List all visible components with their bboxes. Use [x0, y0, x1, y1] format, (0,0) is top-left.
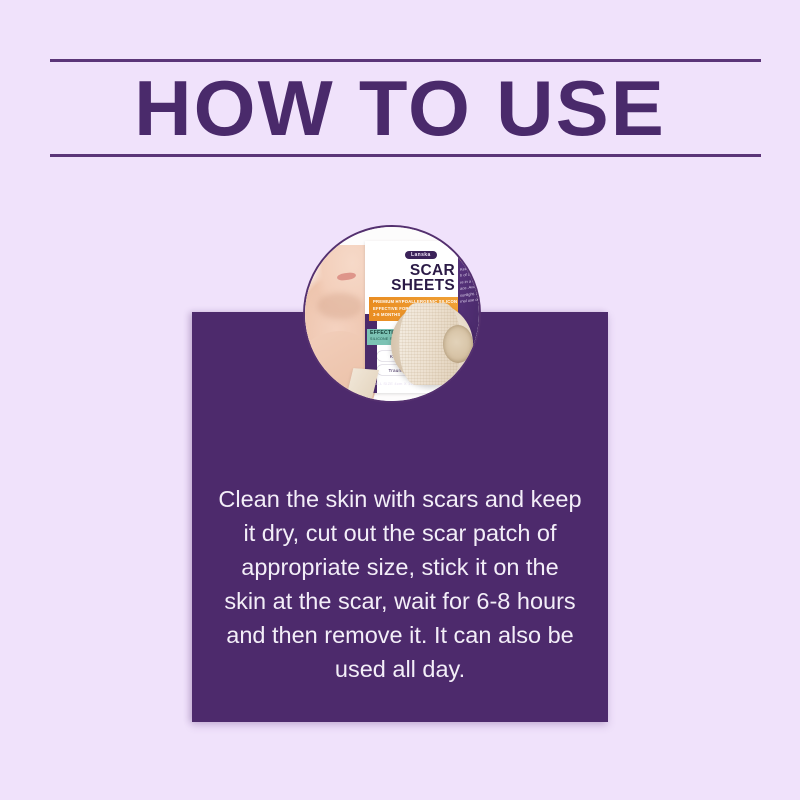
box-title-line1: SCAR — [379, 263, 455, 278]
roll-core — [443, 325, 473, 363]
product-photo: NOTE Keep out of reach of children. Stor… — [305, 227, 479, 401]
box-title-line2: SHEETS — [379, 278, 455, 293]
silicone-tape-roll — [391, 303, 473, 385]
model-neck-shadow — [317, 293, 363, 319]
side-panel-heading: NOTE — [460, 255, 473, 262]
model-lips — [337, 272, 357, 282]
instruction-text: Clean the skin with scars and keep it dr… — [218, 482, 582, 686]
product-image-circle: NOTE Keep out of reach of children. Stor… — [303, 225, 481, 403]
poster-canvas: HOW TO USE Clean the skin with scars and… — [0, 0, 800, 800]
page-title: HOW TO USE — [0, 62, 800, 154]
box-title: SCAR SHEETS — [379, 263, 455, 293]
instruction-card-inner: Clean the skin with scars and keep it dr… — [192, 482, 608, 686]
brand-logo: Lanska — [405, 251, 437, 259]
side-panel-body: Keep out of reach of children. Store in … — [460, 263, 481, 305]
title-rule-bottom — [50, 154, 761, 157]
